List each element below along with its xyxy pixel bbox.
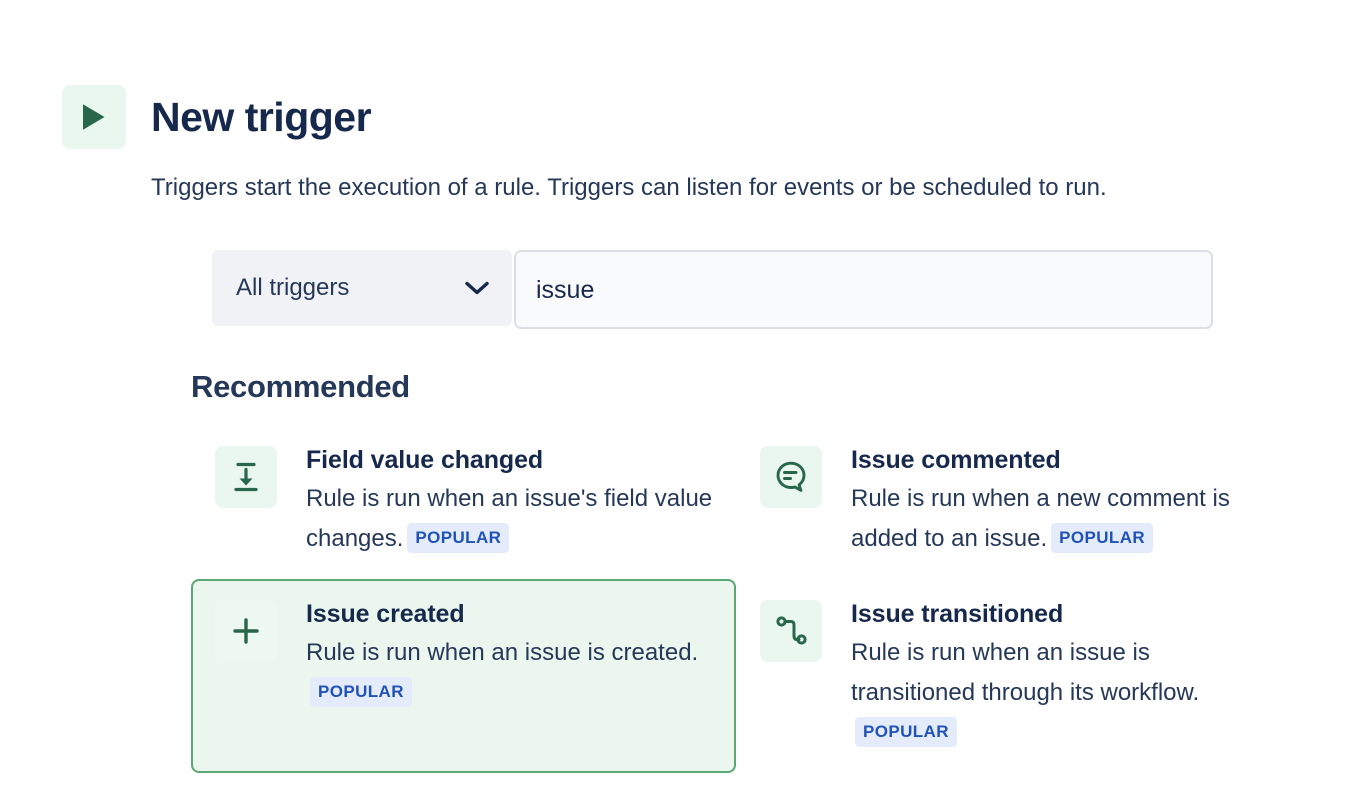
trigger-card-title: Field value changed: [306, 445, 718, 476]
trigger-card-description-text: Rule is run when a new comment is added …: [851, 485, 1230, 552]
trigger-card-description-text: Rule is run when an issue is created.: [306, 639, 698, 666]
status-badge: POPULAR: [310, 677, 412, 707]
trigger-card-description: Rule is run when an issue is created.POP…: [306, 633, 718, 713]
trigger-card-body: Issue commented Rule is run when a new c…: [822, 445, 1263, 559]
chevron-down-icon: [464, 280, 490, 296]
status-badge: POPULAR: [1051, 523, 1153, 553]
comment-icon: [760, 446, 822, 508]
trigger-card-title: Issue created: [306, 599, 718, 630]
page-subtitle: Triggers start the execution of a rule. …: [151, 173, 1107, 203]
trigger-card-title: Issue transitioned: [851, 599, 1263, 630]
field-value-changed-icon: [215, 446, 277, 508]
trigger-card-description: Rule is run when a new comment is added …: [851, 479, 1263, 559]
trigger-card-issue-transitioned[interactable]: Issue transitioned Rule is run when an i…: [736, 579, 1281, 773]
plus-icon: [215, 600, 277, 662]
trigger-card-body: Field value changed Rule is run when an …: [277, 445, 718, 559]
recommended-heading: Recommended: [191, 367, 410, 407]
trigger-card-issue-created[interactable]: Issue created Rule is run when an issue …: [191, 579, 736, 773]
trigger-card-body: Issue transitioned Rule is run when an i…: [822, 599, 1263, 753]
play-icon: [62, 85, 126, 149]
trigger-card-issue-commented[interactable]: Issue commented Rule is run when a new c…: [736, 425, 1281, 579]
status-badge: POPULAR: [407, 523, 509, 553]
trigger-card-description: Rule is run when an issue's field value …: [306, 479, 718, 559]
trigger-card-description: Rule is run when an issue is transitione…: [851, 633, 1263, 753]
trigger-card-title: Issue commented: [851, 445, 1263, 476]
trigger-card-description-text: Rule is run when an issue is transitione…: [851, 639, 1199, 706]
new-trigger-page: New trigger Triggers start the execution…: [0, 0, 1356, 802]
search-field-wrapper[interactable]: [514, 250, 1213, 329]
trigger-type-dropdown[interactable]: All triggers: [212, 250, 512, 326]
workflow-transition-icon: [760, 600, 822, 662]
status-badge: POPULAR: [855, 717, 957, 747]
trigger-card-field-value-changed[interactable]: Field value changed Rule is run when an …: [191, 425, 736, 579]
trigger-card-description-text: Rule is run when an issue's field value …: [306, 485, 712, 552]
trigger-card-body: Issue created Rule is run when an issue …: [277, 599, 718, 713]
page-title: New trigger: [126, 94, 371, 140]
trigger-filter-row: All triggers: [212, 250, 1213, 329]
search-input[interactable]: [536, 275, 1191, 305]
trigger-cards-grid: Field value changed Rule is run when an …: [191, 425, 1281, 773]
trigger-type-dropdown-label: All triggers: [236, 274, 349, 302]
page-header: New trigger: [62, 85, 371, 149]
